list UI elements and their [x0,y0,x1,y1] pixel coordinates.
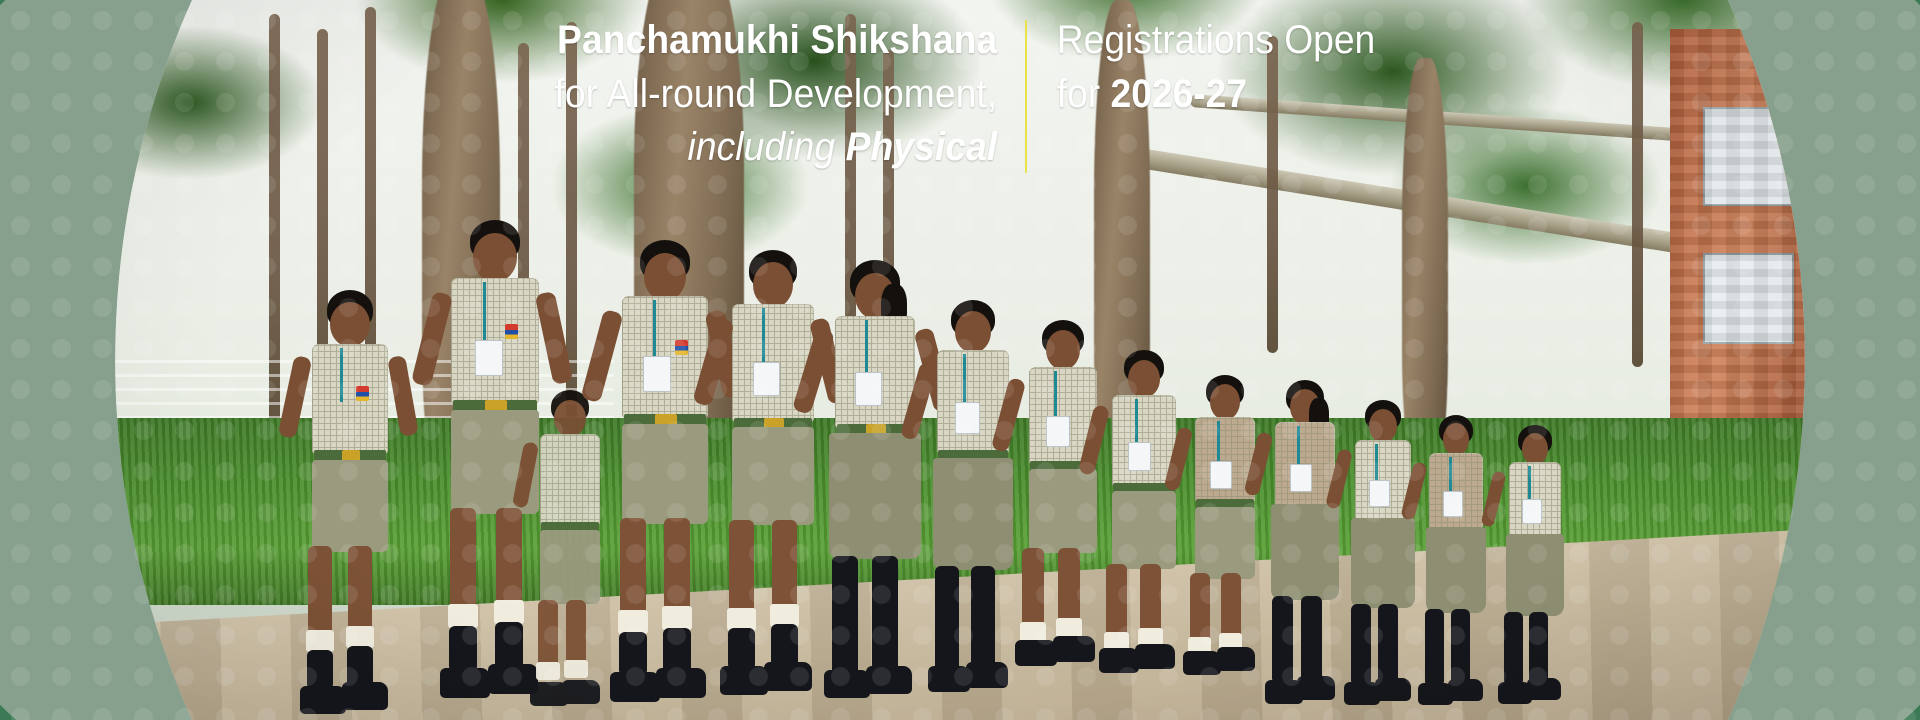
hero-banner: Panchamukhi Shikshana for All-round Deve… [0,0,1920,720]
hero-photo [0,0,1920,720]
photo-vignette [0,0,1920,720]
photo-canvas [0,0,1920,720]
